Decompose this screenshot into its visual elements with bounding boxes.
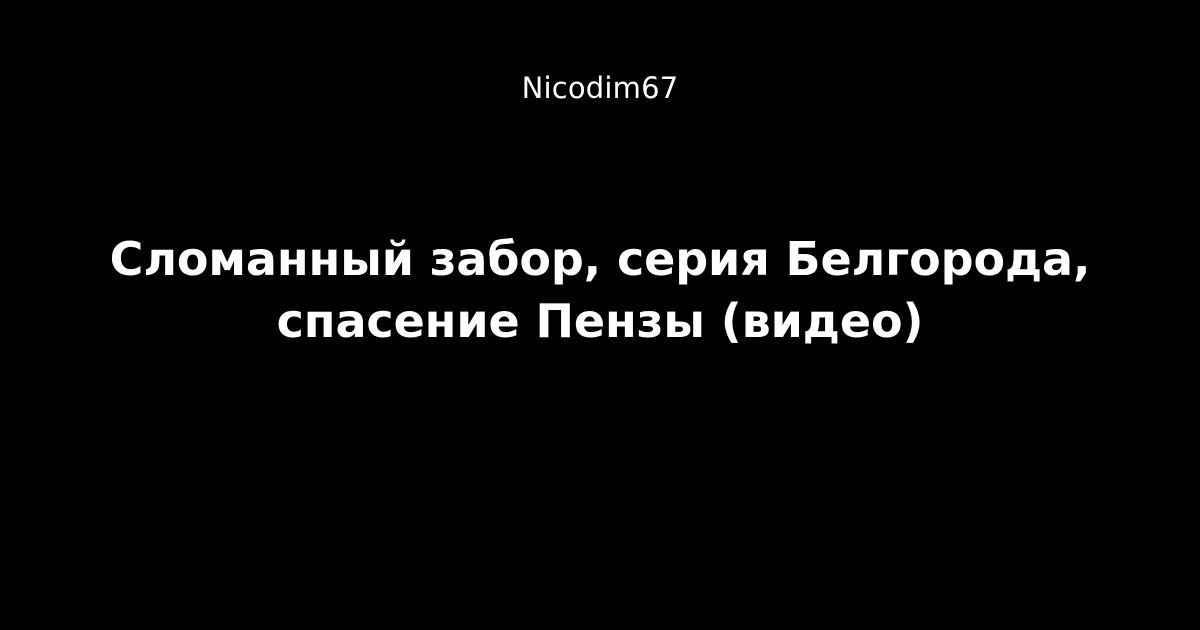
headline-block: Сломанный забор, серия Белгорода, спасен… [60,228,1140,352]
share-card: Nicodim67 Сломанный забор, серия Белгоро… [0,0,1200,630]
author-row: Nicodim67 [0,74,1200,103]
page-title: Сломанный забор, серия Белгорода, спасен… [60,228,1140,352]
author-name: Nicodim67 [522,74,679,103]
